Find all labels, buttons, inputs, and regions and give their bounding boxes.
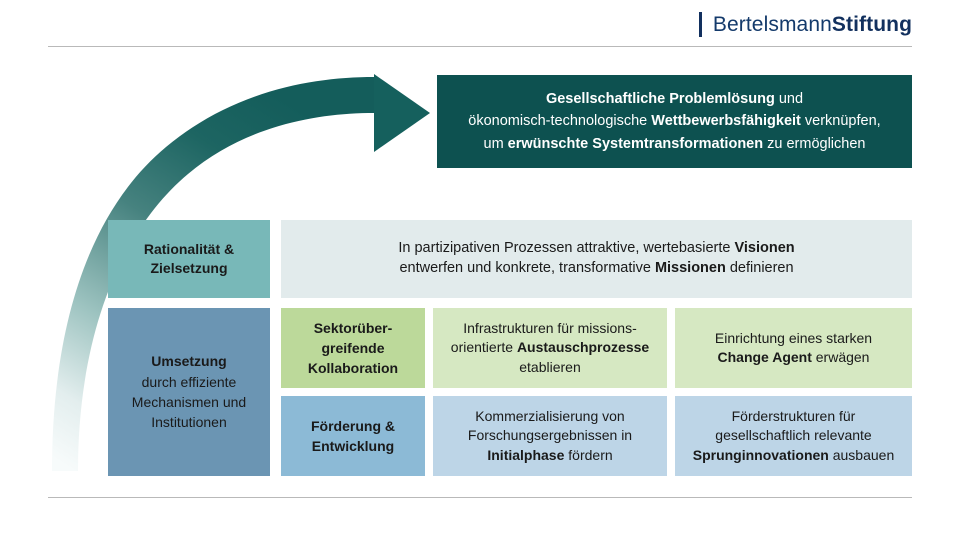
row-label-umsetzung: Umsetzung durch effiziente Mechanismen u… [108, 308, 270, 476]
infra-bold-2: Austauschprozesse [517, 339, 649, 355]
vision-post-2: definieren [726, 260, 794, 276]
hero-statement-text: Gesellschaftliche Problemlösung und ökon… [452, 88, 896, 155]
kommerz-post-3: fördern [564, 447, 612, 463]
umsetzung-line-2: durch effiziente [142, 374, 237, 390]
kommerz-bold-3: Initialphase [487, 447, 564, 463]
row-label-rationalitaet-text: Rationalität & Zielsetzung [134, 240, 244, 278]
kommerz-line-2: Forschungsergebnissen in [468, 427, 632, 443]
cell-kommerzialisierung: Kommerzialisierung von Forschungsergebni… [433, 396, 667, 476]
hero-bold-3: erwünschte Systemtransformationen [508, 136, 763, 152]
sprung-line-1: Förderstrukturen für [732, 408, 856, 424]
cell-sprunginnovationen: Förderstrukturen für gesellschaftlich re… [675, 396, 912, 476]
rationalitaet-line-1: Rationalität & [144, 241, 234, 257]
cell-visionen-missionen-text: In partizipativen Prozessen attraktive, … [388, 239, 804, 278]
change-line-1: Einrichtung eines starken [715, 330, 872, 346]
row-label-kollaboration-text: Sektorüber- greifende Kollaboration [298, 318, 408, 379]
hero-pre-2: ökonomisch-technologische [468, 113, 651, 129]
cell-austauschprozesse-text: Infrastrukturen für missions- orientiert… [441, 319, 659, 376]
infra-pre-2: orientierte [451, 339, 517, 355]
slide-canvas: BertelsmannStiftung Gesellschaftliche Pr… [0, 0, 960, 540]
hero-rest-2: verknüpfen, [801, 113, 881, 129]
umsetzung-line-3: Mechanismen und [132, 394, 246, 410]
vision-bold-2: Missionen [655, 260, 726, 276]
hero-rest-3: zu ermöglichen [763, 136, 865, 152]
sprung-post-3: ausbauen [829, 447, 894, 463]
row-label-umsetzung-text: Umsetzung durch effiziente Mechanismen u… [122, 351, 256, 432]
infra-line-3: etablieren [519, 359, 581, 375]
hero-rest-1: und [775, 91, 803, 107]
change-post-2: erwägen [812, 349, 870, 365]
row-label-rationalitaet: Rationalität & Zielsetzung [108, 220, 270, 298]
sprung-line-2: gesellschaftlich relevante [715, 427, 871, 443]
cell-change-agent-text: Einrichtung eines starken Change Agent e… [705, 329, 882, 367]
umsetzung-line-4: Institutionen [151, 414, 227, 430]
row-label-foerderung-text: Förderung & Entwicklung [301, 416, 405, 457]
kollaboration-line-1: Sektorüber- [314, 320, 393, 336]
hero-bold-1: Gesellschaftliche Problemlösung [546, 91, 775, 107]
cell-sprunginnovationen-text: Förderstrukturen für gesellschaftlich re… [683, 407, 905, 464]
change-bold-2: Change Agent [718, 349, 812, 365]
cell-austauschprozesse: Infrastrukturen für missions- orientiert… [433, 308, 667, 388]
row-label-foerderung: Förderung & Entwicklung [281, 396, 425, 476]
sprung-bold-3: Sprunginnovationen [693, 447, 829, 463]
vision-bold-1: Visionen [734, 240, 794, 256]
foerderung-line-2: Entwicklung [312, 438, 394, 454]
kommerz-line-1: Kommerzialisierung von [475, 408, 624, 424]
kollaboration-line-3: Kollaboration [308, 360, 398, 376]
cell-visionen-missionen: In partizipativen Prozessen attraktive, … [281, 220, 912, 298]
vision-pre-2: entwerfen und konkrete, transformative [399, 260, 655, 276]
infra-line-1: Infrastrukturen für missions- [463, 320, 637, 336]
cell-kommerzialisierung-text: Kommerzialisierung von Forschungsergebni… [458, 407, 642, 464]
umsetzung-line-1: Umsetzung [151, 353, 226, 369]
vision-pre-1: In partizipativen Prozessen attraktive, … [398, 240, 734, 256]
hero-statement-box: Gesellschaftliche Problemlösung und ökon… [437, 75, 912, 168]
foerderung-line-1: Förderung & [311, 418, 395, 434]
hero-pre-3: um [484, 136, 508, 152]
kollaboration-line-2: greifende [321, 340, 384, 356]
rationalitaet-line-2: Zielsetzung [150, 260, 227, 276]
hero-bold-2: Wettbewerbsfähigkeit [651, 113, 801, 129]
cell-change-agent: Einrichtung eines starken Change Agent e… [675, 308, 912, 388]
row-label-kollaboration: Sektorüber- greifende Kollaboration [281, 308, 425, 388]
